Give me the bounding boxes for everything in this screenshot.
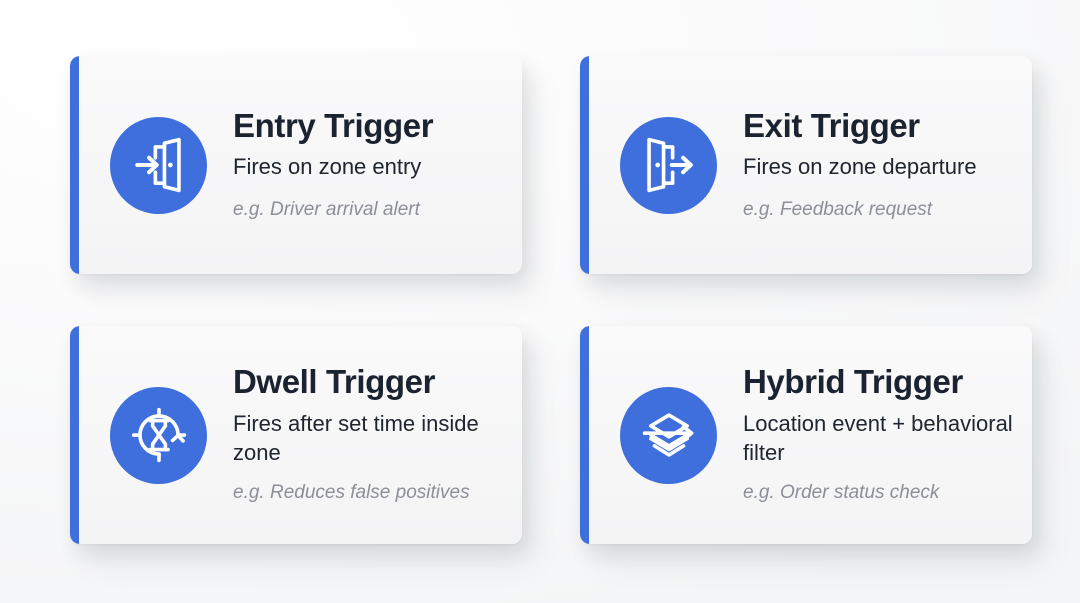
card-example: e.g. Feedback request — [743, 198, 1014, 222]
card-title: Exit Trigger — [743, 109, 1014, 144]
card-text: Dwell Trigger Fires after set time insid… — [233, 365, 504, 505]
card-text: Entry Trigger Fires on zone entry e.g. D… — [233, 109, 504, 222]
door-enter-arrow-icon — [110, 117, 207, 214]
card-title: Entry Trigger — [233, 109, 504, 144]
card-hybrid-trigger[interactable]: Hybrid Trigger Location event + behavior… — [580, 326, 1032, 544]
card-inner: Entry Trigger Fires on zone entry e.g. D… — [70, 109, 522, 222]
door-exit-arrow-icon — [620, 117, 717, 214]
card-exit-trigger[interactable]: Exit Trigger Fires on zone departure e.g… — [580, 56, 1032, 274]
layers-arrow-icon — [620, 387, 717, 484]
card-example: e.g. Driver arrival alert — [233, 198, 504, 222]
card-inner: Exit Trigger Fires on zone departure e.g… — [580, 109, 1032, 222]
card-inner: Dwell Trigger Fires after set time insid… — [70, 365, 522, 505]
card-example: e.g. Order status check — [743, 481, 1014, 505]
card-description: Location event + behavioral filter — [743, 409, 1014, 468]
card-text: Exit Trigger Fires on zone departure e.g… — [743, 109, 1014, 222]
card-title: Dwell Trigger — [233, 365, 504, 400]
card-example: e.g. Reduces false positives — [233, 481, 504, 505]
card-entry-trigger[interactable]: Entry Trigger Fires on zone entry e.g. D… — [70, 56, 522, 274]
card-description: Fires on zone departure — [743, 152, 1014, 181]
card-description: Fires after set time inside zone — [233, 409, 504, 468]
card-title: Hybrid Trigger — [743, 365, 1014, 400]
card-text: Hybrid Trigger Location event + behavior… — [743, 365, 1014, 505]
card-description: Fires on zone entry — [233, 152, 504, 181]
card-inner: Hybrid Trigger Location event + behavior… — [580, 365, 1032, 505]
hourglass-refresh-target-icon — [110, 387, 207, 484]
trigger-card-grid: Entry Trigger Fires on zone entry e.g. D… — [0, 0, 1080, 603]
card-dwell-trigger[interactable]: Dwell Trigger Fires after set time insid… — [70, 326, 522, 544]
